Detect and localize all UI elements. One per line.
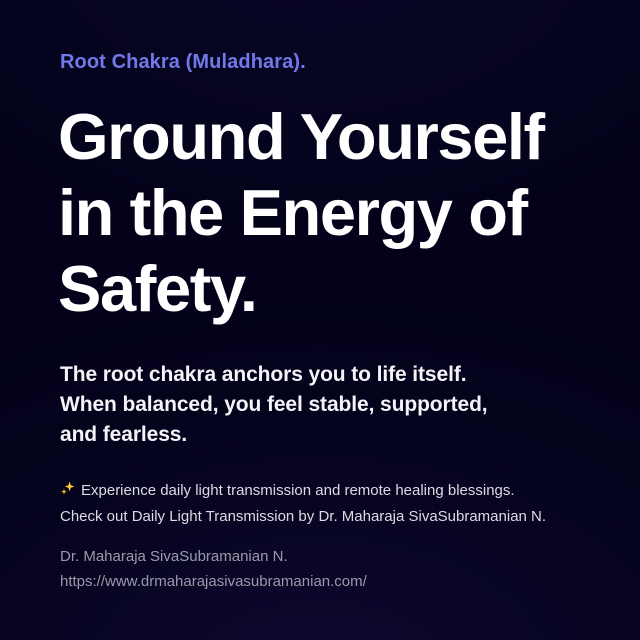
headline-line-3: Safety. — [58, 251, 588, 327]
chakra-quote-card: Root Chakra (Muladhara). Ground Yourself… — [0, 0, 640, 640]
card-eyebrow-label: Root Chakra (Muladhara). — [60, 49, 306, 75]
footer-author-name: Dr. Maharaja SivaSubramanian N. — [60, 544, 600, 569]
body-line-3: and fearless. — [60, 420, 590, 450]
card-promo-note: Experience daily light transmission and … — [60, 478, 600, 529]
card-footer: Dr. Maharaja SivaSubramanian N. https://… — [60, 544, 600, 594]
promo-note-text-1: Experience daily light transmission and … — [81, 482, 515, 499]
card-headline: Ground Yourself in the Energy of Safety. — [58, 99, 588, 327]
body-line-2: When balanced, you feel stable, supporte… — [60, 390, 590, 420]
footer-website-url[interactable]: https://www.drmaharajasivasubramanian.co… — [60, 569, 600, 594]
promo-note-line-1: Experience daily light transmission and … — [60, 478, 600, 504]
headline-line-2: in the Energy of — [58, 175, 588, 251]
card-body-paragraph: The root chakra anchors you to life itse… — [60, 360, 590, 450]
sparkles-icon — [60, 479, 77, 504]
headline-line-1: Ground Yourself — [58, 99, 588, 175]
promo-note-line-2: Check out Daily Light Transmission by Dr… — [60, 504, 600, 529]
body-line-1: The root chakra anchors you to life itse… — [60, 360, 590, 390]
